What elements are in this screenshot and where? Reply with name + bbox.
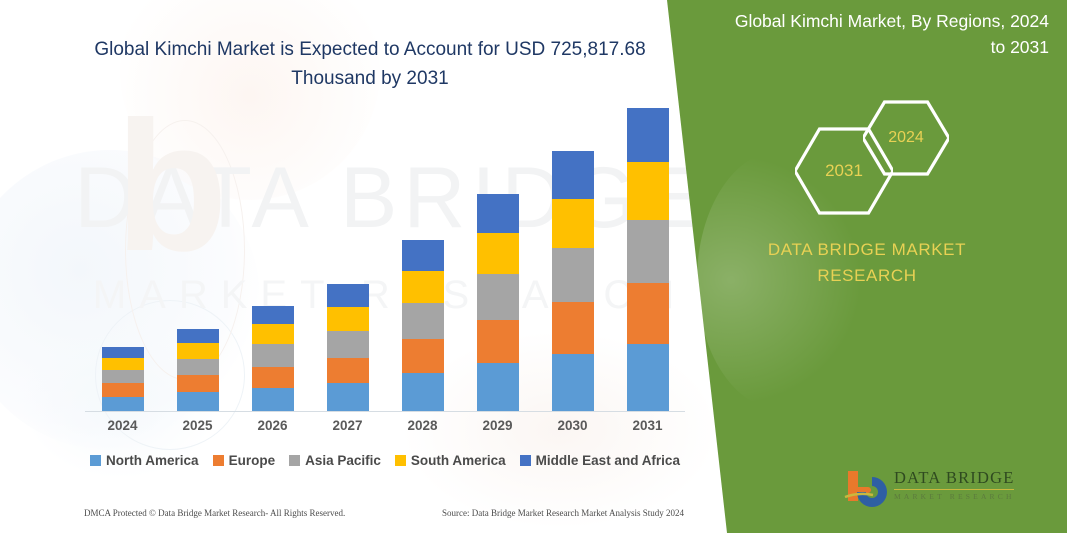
bar-segment [102,397,144,411]
stacked-bar [252,306,294,411]
bar-segment [252,324,294,344]
logo-name: DATA BRIDGE [894,469,1015,487]
bar-column [160,329,235,411]
x-axis-label: 2028 [385,418,460,433]
footer-copyright: DMCA Protected © Data Bridge Market Rese… [84,508,345,518]
x-axis-labels: 20242025202620272028202920302031 [85,418,685,433]
chart-legend: North AmericaEuropeAsia PacificSouth Ame… [85,453,685,468]
bar-segment [327,307,369,331]
legend-swatch-icon [395,455,406,466]
bar-segment [327,358,369,384]
hexagon-badge-2031: 2031 [795,125,893,217]
stacked-bar [402,240,444,411]
brand-wordmark-line-2: RESEARCH [722,263,1012,289]
bar-segment [402,339,444,373]
bar-column [535,151,610,411]
bar-segment [552,151,594,199]
bar-column [460,194,535,411]
logo-divider [894,489,1014,490]
bar-segment [102,370,144,383]
bar-segment [627,162,669,220]
footer: DMCA Protected © Data Bridge Market Rese… [84,508,684,518]
bar-segment [327,284,369,306]
bar-segment [402,271,444,303]
logo-text: DATA BRIDGE MARKET RESEARCH [894,469,1015,501]
bar-segment [552,248,594,302]
hexagon-badges: 2024 2031 [777,95,1007,220]
x-axis-line [85,411,685,412]
legend-label: North America [106,453,199,468]
logo-tagline: MARKET RESEARCH [894,492,1015,501]
x-axis-label: 2026 [235,418,310,433]
legend-swatch-icon [520,455,531,466]
legend-label: Asia Pacific [305,453,381,468]
legend-label: Europe [229,453,276,468]
bar-column [235,306,310,411]
legend-swatch-icon [90,455,101,466]
bar-segment [327,383,369,411]
stacked-bar [627,108,669,411]
legend-item[interactable]: South America [395,453,506,468]
legend-item[interactable]: Middle East and Africa [520,453,680,468]
bar-segment [627,344,669,411]
legend-label: Middle East and Africa [536,453,680,468]
legend-label: South America [411,453,506,468]
bar-segment [477,320,519,363]
chart-area: Global Kimchi Market is Expected to Acco… [0,0,740,533]
bar-segment [552,302,594,354]
bar-column [610,108,685,411]
legend-item[interactable]: North America [90,453,199,468]
bar-segment [477,274,519,320]
bar-segment [552,199,594,248]
bar-segment [177,343,219,359]
bar-column [310,284,385,411]
bar-segment [102,347,144,358]
x-axis-label: 2024 [85,418,160,433]
bar-segment [177,375,219,392]
bar-segment [102,358,144,370]
x-axis-label: 2031 [610,418,685,433]
bar-segment [102,383,144,396]
brand-wordmark-line-1: DATA BRIDGE MARKET [722,237,1012,263]
bar-segment [477,194,519,233]
plot-region [85,100,685,412]
stacked-bar [102,347,144,411]
bar-column [385,240,460,411]
hexagon-badge-2024-label: 2024 [888,129,924,147]
x-axis-label: 2027 [310,418,385,433]
bar-segment [477,233,519,274]
hexagon-badge-2031-label: 2031 [825,161,863,181]
legend-swatch-icon [213,455,224,466]
bar-segment [552,354,594,411]
bar-segment [252,367,294,388]
bar-segment [327,331,369,358]
stacked-bar [477,194,519,411]
logo-mark-icon [842,467,890,513]
x-axis-label: 2025 [160,418,235,433]
bar-column [85,347,160,411]
bar-segment [402,303,444,339]
bar-segment [252,306,294,325]
infographic-canvas: b DATA BRIDGE MARKET RESEARCH Global Kim… [0,0,1067,533]
brand-panel: Global Kimchi Market, By Regions, 2024 t… [667,0,1067,533]
stacked-bar [552,151,594,411]
bar-segment [402,373,444,411]
bar-segment [252,388,294,411]
stacked-bar [327,284,369,411]
legend-swatch-icon [289,455,300,466]
brand-wordmark: DATA BRIDGE MARKET RESEARCH [722,237,1012,290]
chart-title: Global Kimchi Market is Expected to Acco… [60,36,680,93]
bar-segment [177,329,219,343]
x-axis-label: 2029 [460,418,535,433]
bar-segment [402,240,444,271]
bar-segment [627,220,669,283]
footer-source: Source: Data Bridge Market Research Mark… [442,508,684,518]
company-logo: DATA BRIDGE MARKET RESEARCH [842,465,1042,515]
bar-segment [477,363,519,411]
bar-segment [177,359,219,376]
bar-segment [252,344,294,366]
stacked-bar [177,329,219,411]
x-axis-label: 2030 [535,418,610,433]
legend-item[interactable]: Europe [213,453,276,468]
bar-segment [177,392,219,411]
bar-segment [627,283,669,344]
bar-segment [627,108,669,162]
legend-item[interactable]: Asia Pacific [289,453,381,468]
panel-title: Global Kimchi Market, By Regions, 2024 t… [719,8,1049,61]
bar-group [85,100,685,411]
